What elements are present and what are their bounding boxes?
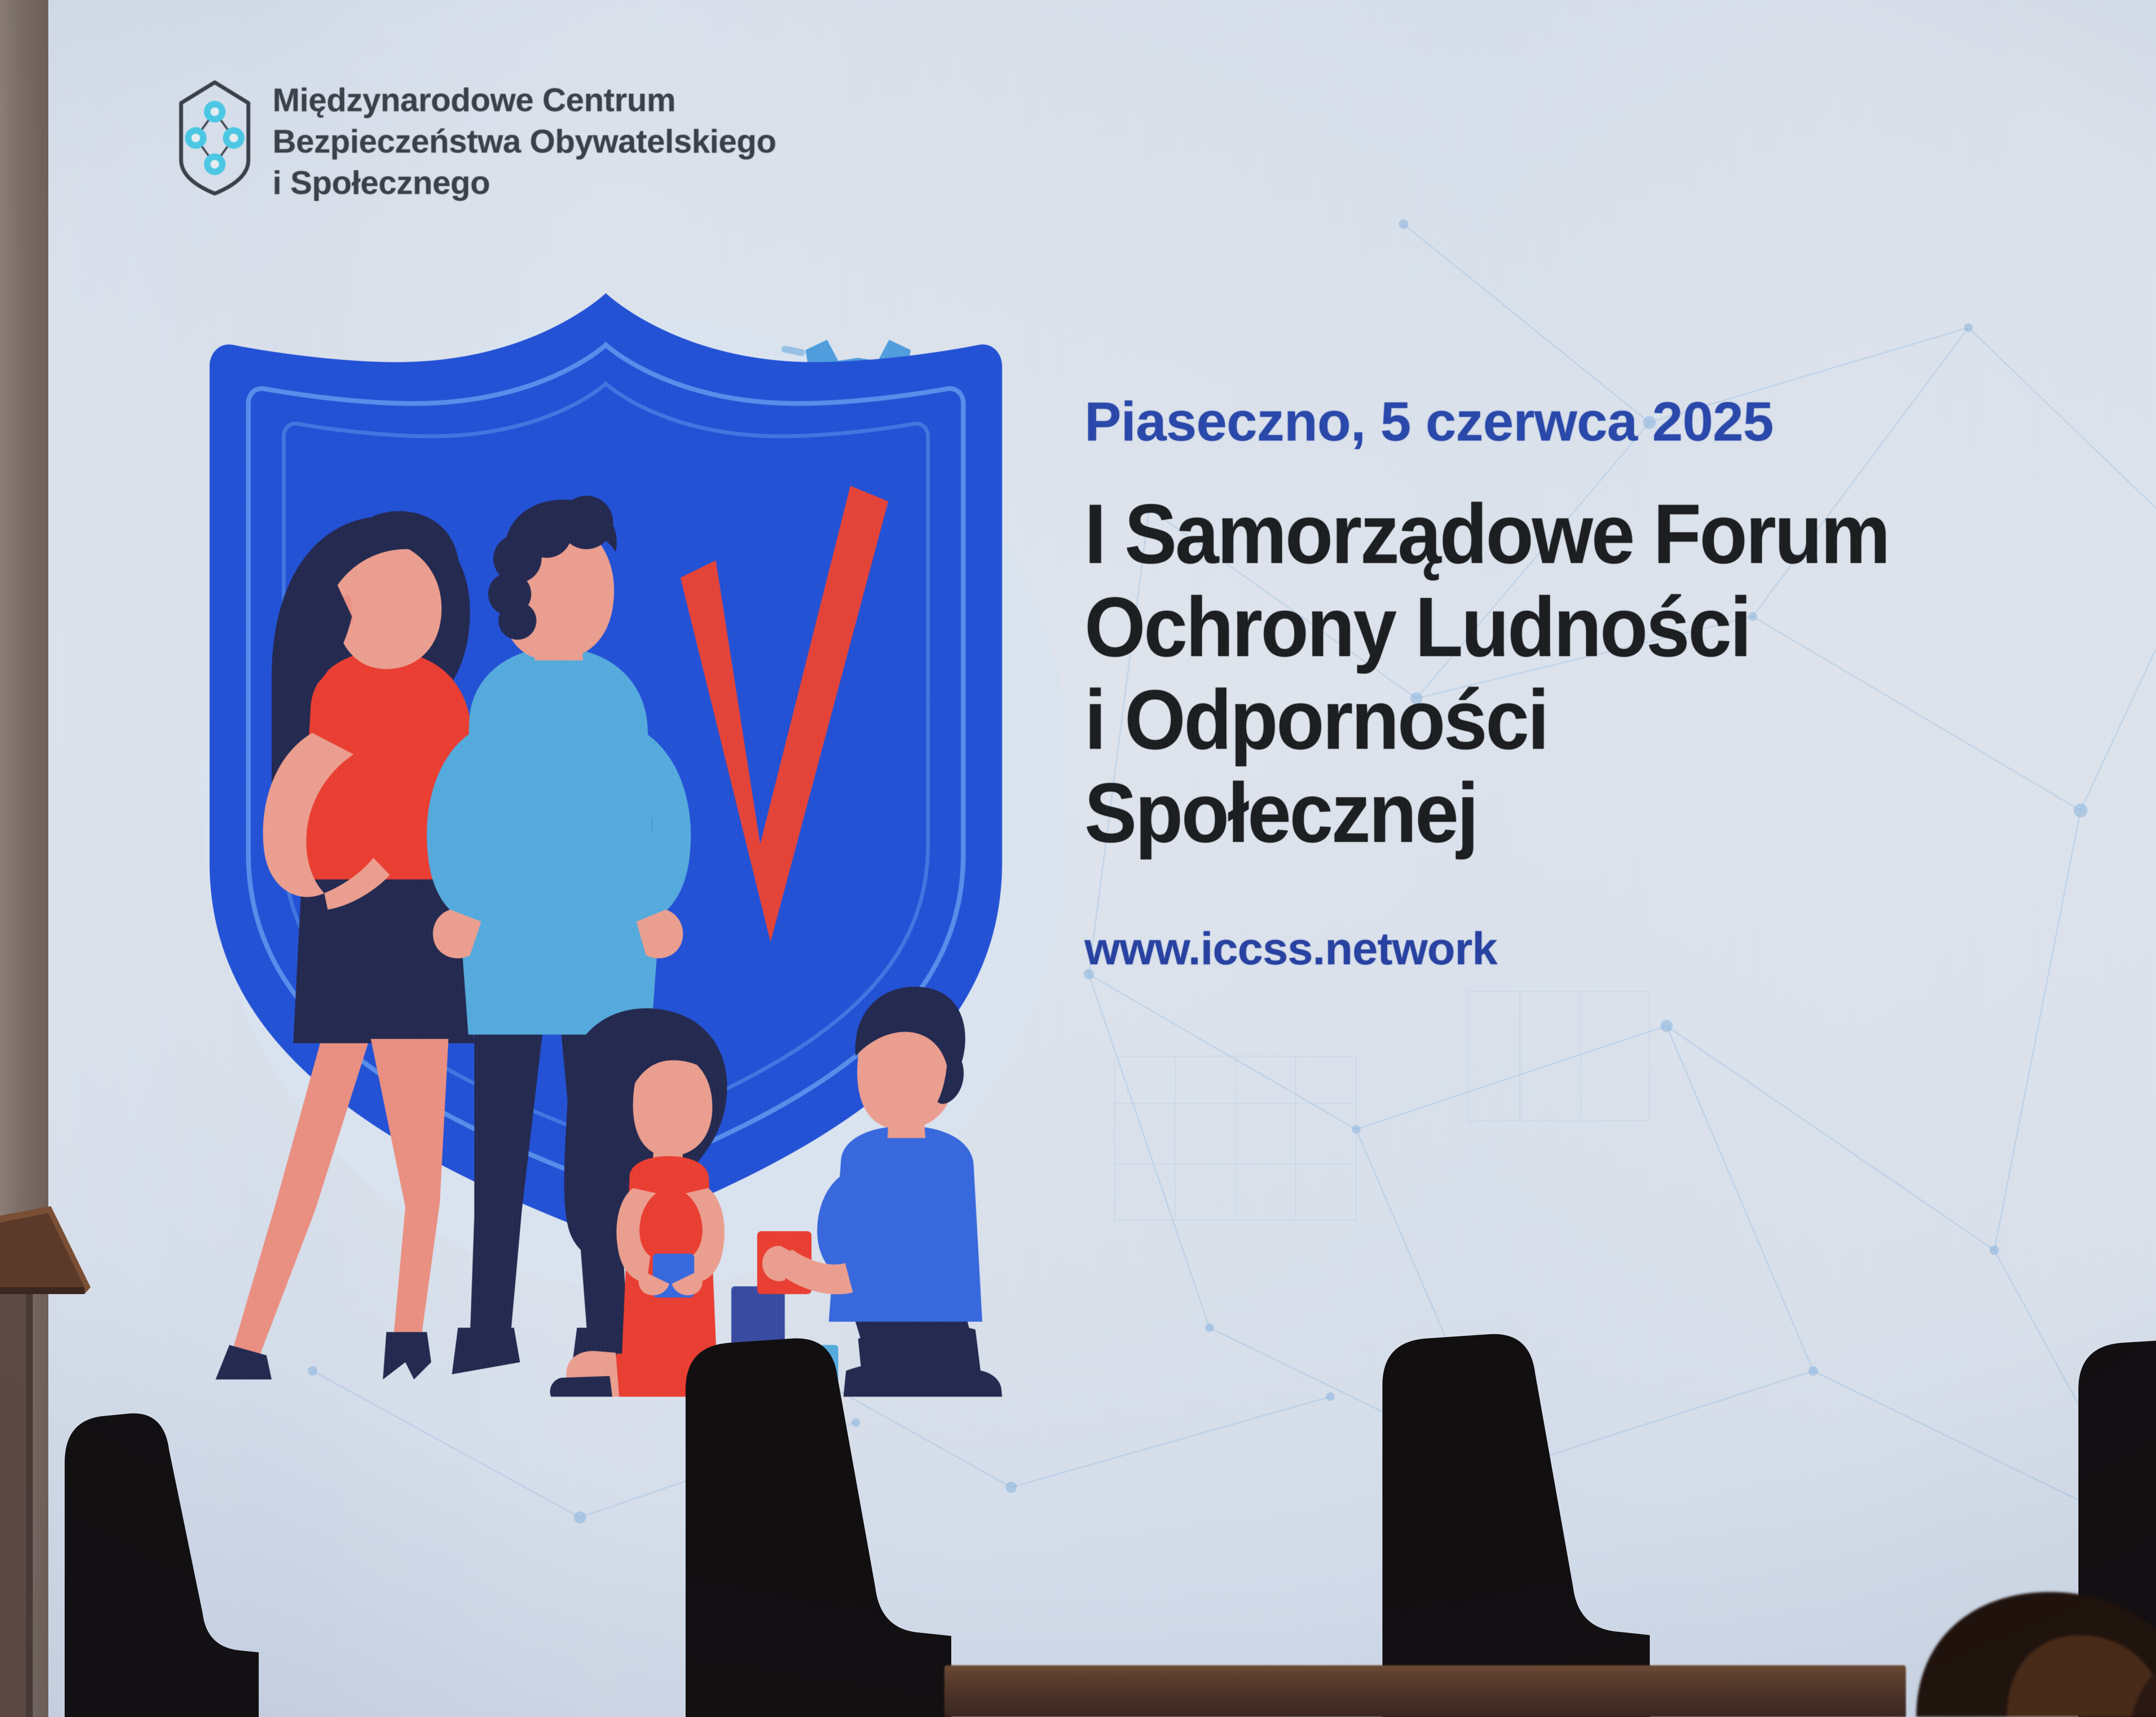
- title-line-4: Społecznej: [1084, 766, 2156, 860]
- organization-logo: Międzynarodowe Centrum Bezpieczeństwa Ob…: [177, 80, 776, 203]
- shield-network-icon: [177, 80, 253, 196]
- title-line-3: i Odporności: [1084, 673, 2156, 766]
- slide-copy: Piaseczno, 5 czerwca 2025 I Samorządowe …: [1084, 394, 2156, 975]
- wooden-podium: [0, 1203, 142, 1717]
- page-title: I Samorządowe Forum Ochrony Ludności i O…: [1084, 488, 2156, 859]
- family-shield-illustration: [129, 276, 1063, 1436]
- title-line-2: Ochrony Ludności: [1084, 581, 2156, 674]
- website-url[interactable]: www.iccss.network: [1084, 923, 2156, 975]
- logo-text: Międzynarodowe Centrum Bezpieczeństwa Ob…: [273, 80, 776, 203]
- title-line-1: I Samorządowe Forum: [1084, 488, 2156, 581]
- audience-head-silhouette: [1865, 1532, 2156, 1717]
- event-date-location: Piaseczno, 5 czerwca 2025: [1084, 394, 2156, 450]
- projection-screen: Międzynarodowe Centrum Bezpieczeństwa Ob…: [45, 0, 2156, 1717]
- slide-photo-stage: Międzynarodowe Centrum Bezpieczeństwa Ob…: [0, 0, 2156, 1717]
- wooden-table-edge: [944, 1665, 1906, 1717]
